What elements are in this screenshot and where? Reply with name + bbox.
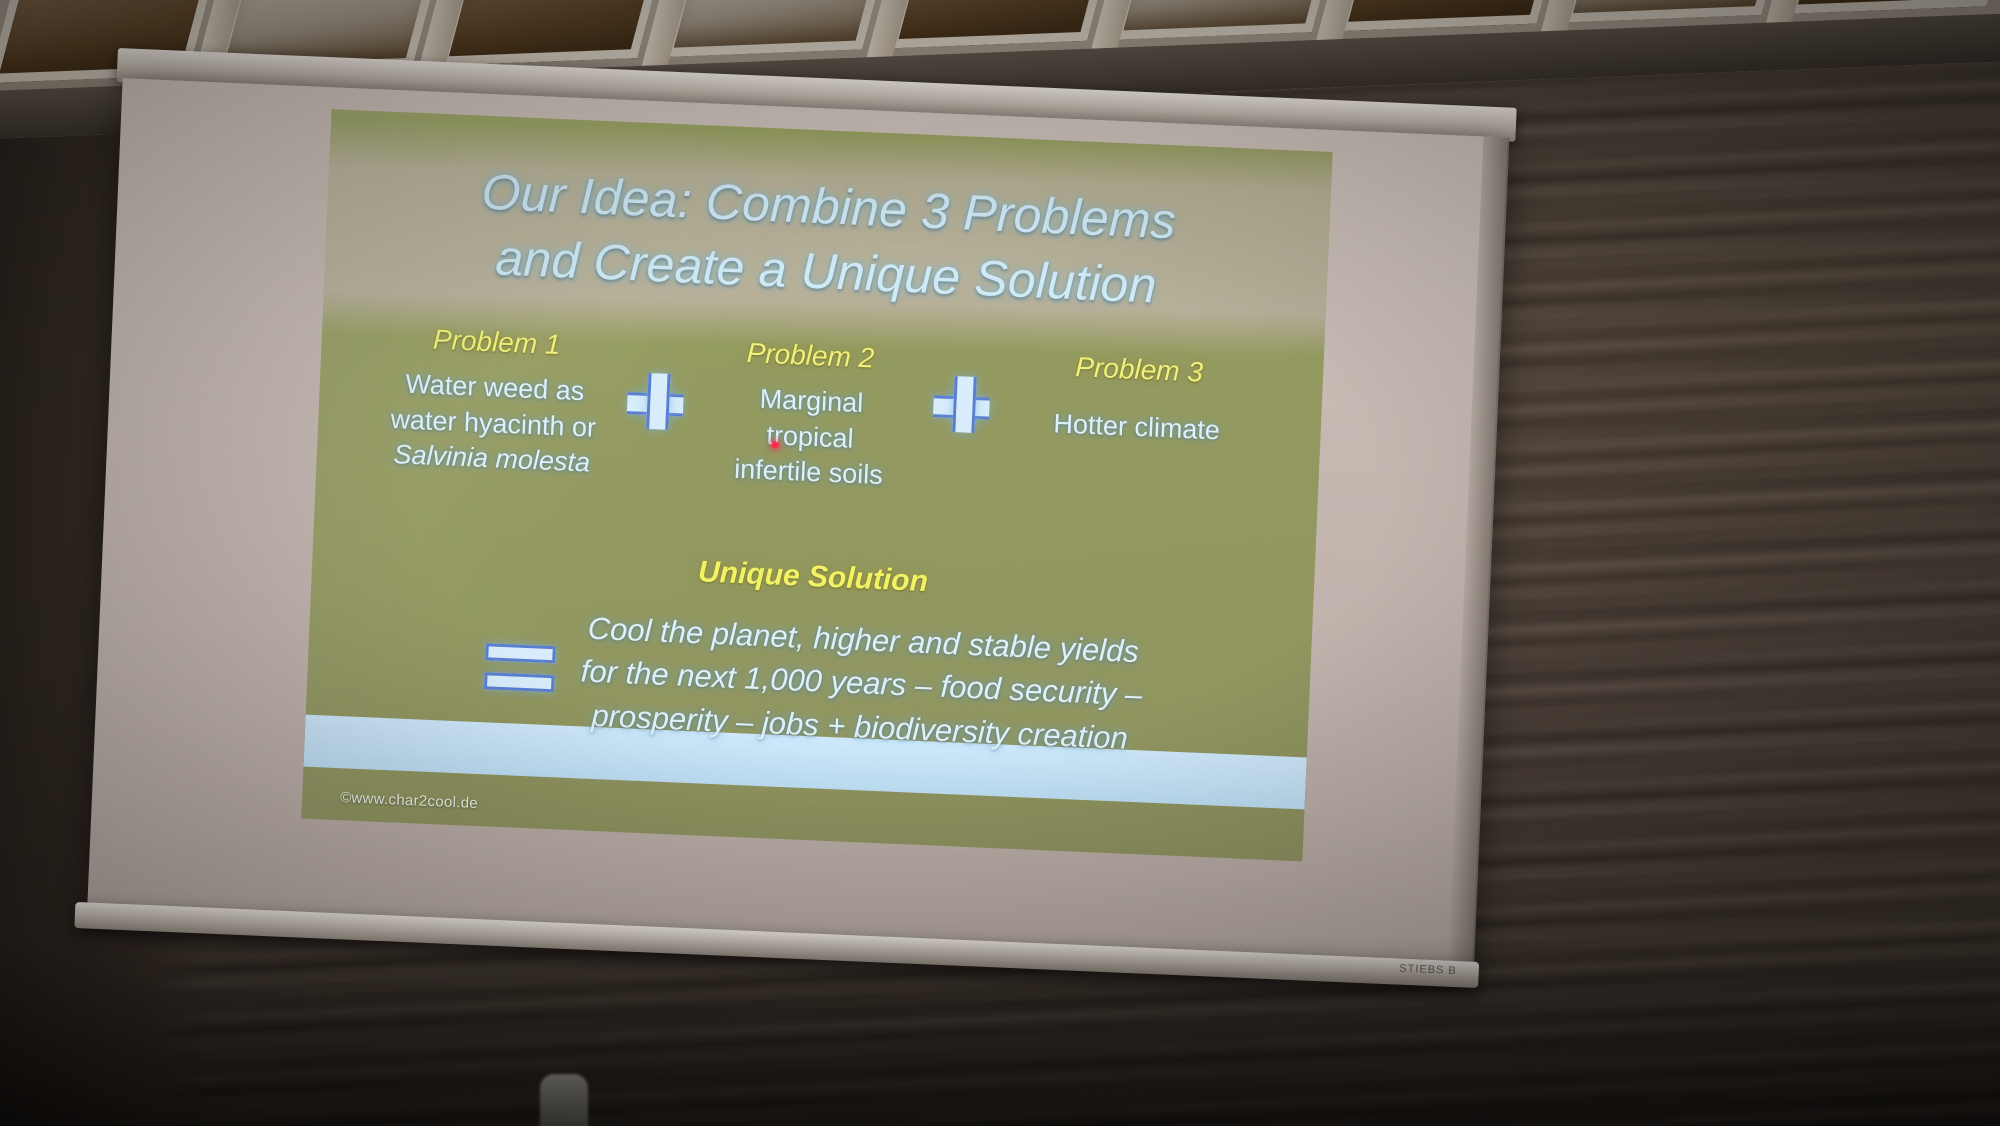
problem-2-line-3: infertile soils [703,451,914,496]
slide-credit-url: ©www.char2cool.de [340,789,478,812]
plus-operator-2-wrap [915,345,1015,441]
problem-column-2: Problem 2 Marginal tropical infertile so… [703,336,919,496]
ceiling-coffer [1112,0,1341,40]
plus-icon [626,372,691,437]
equals-icon [484,641,556,696]
ceiling-coffer [438,0,667,66]
solution-body: Cool the planet, higher and stable yield… [578,606,1145,760]
equals-icon-top-bar [485,643,556,663]
ceiling-coffer [1787,0,2000,14]
plus-operator-1-wrap [609,331,709,437]
ceiling-coffer [887,0,1116,48]
problem-column-3: Problem 3 Hotter climate [1011,349,1265,451]
problem-column-1: Problem 1 Water weed as water hyacinth o… [375,322,613,483]
problem-2-body: Marginal tropical infertile soils [703,379,917,495]
slide-title: Our Idea: Combine 3 Problems and Create … [324,153,1331,326]
problem-3-heading: Problem 3 [1014,349,1265,392]
screenshot-stage: STIEBS B Our Idea: Combine 3 Problems an… [0,0,2000,1126]
problem-1-heading: Problem 1 [380,322,613,364]
presentation-slide: Our Idea: Combine 3 Problems and Create … [301,109,1332,861]
floor-shadow [0,936,2000,1126]
plus-icon-center-fill [650,396,667,413]
plus-icon-center-fill [956,399,973,416]
problems-row: Problem 1 Water weed as water hyacinth o… [316,319,1324,513]
ceiling-coffer [1562,0,1791,23]
problem-3-line-1: Hotter climate [1011,405,1262,451]
plus-icon [932,375,997,440]
problem-3-body: Hotter climate [1011,405,1262,451]
problem-1-body: Water weed as water hyacinth or Salvinia… [375,365,611,482]
problem-2-heading: Problem 2 [702,335,919,376]
ceiling-coffer [1337,0,1566,31]
equals-icon-bottom-bar [484,672,555,692]
ceiling-coffer [662,0,891,57]
